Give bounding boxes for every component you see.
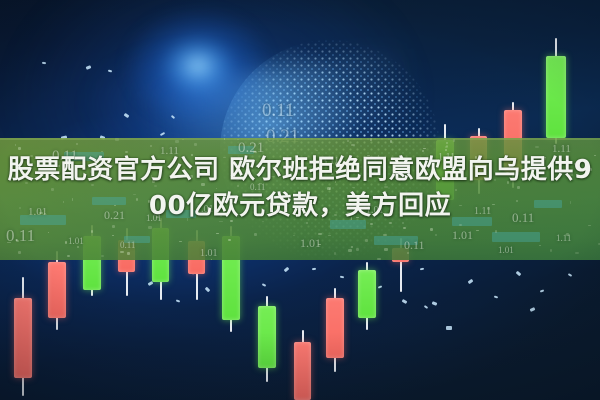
headline-line-2: 00亿欧元贷款，美方回应 [0,188,600,224]
headline-line-1: 股票配资官方公司 欧尔班拒绝同意欧盟向乌提供9 [0,152,600,188]
headline-text: 股票配资官方公司 欧尔班拒绝同意欧盟向乌提供9 00亿欧元贷款，美方回应 [0,152,600,224]
banner-image: 0.110.21 0.111.110.213.111.111.111.010.2… [0,0,600,400]
